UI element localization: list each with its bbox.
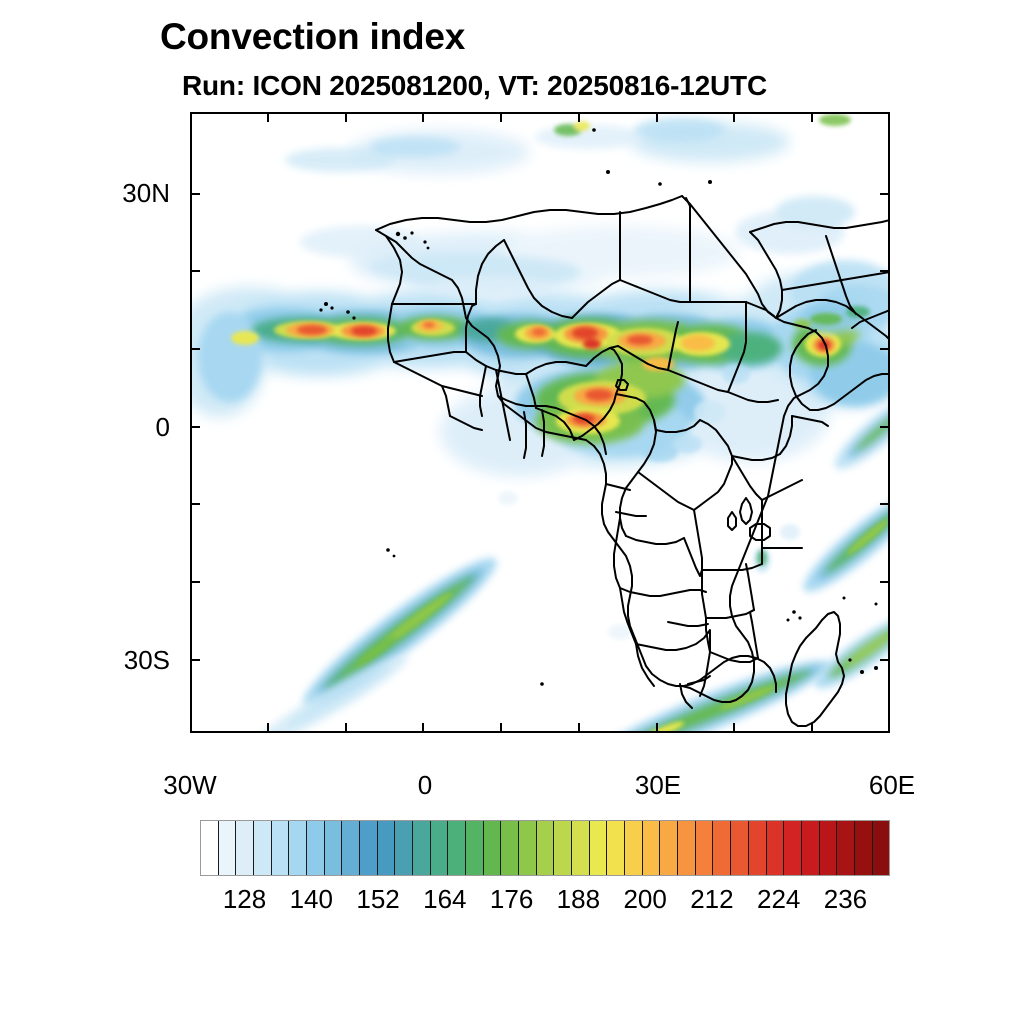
colorbar-cell xyxy=(820,821,838,875)
colorbar-cell xyxy=(572,821,590,875)
colorbar-cell xyxy=(873,821,890,875)
colorbar-cell xyxy=(289,821,307,875)
colorbar-cell xyxy=(201,821,219,875)
map-plot-area xyxy=(190,112,890,733)
colorbar-cell xyxy=(219,821,237,875)
colorbar-cell xyxy=(448,821,466,875)
colorbar-cell xyxy=(784,821,802,875)
xtick-label-30w: 30W xyxy=(110,770,270,801)
colorbar-cell xyxy=(236,821,254,875)
colorbar-cell xyxy=(855,821,873,875)
colorbar-cell xyxy=(537,821,555,875)
page-title: Convection index xyxy=(160,16,465,58)
colorbar-cell xyxy=(625,821,643,875)
colorbar-cell xyxy=(325,821,343,875)
colorbar-cell xyxy=(590,821,608,875)
colorbar-cell xyxy=(802,821,820,875)
xtick-label-60e: 60E xyxy=(812,770,972,801)
colorbar-cell xyxy=(378,821,396,875)
colorbar-cell xyxy=(696,821,714,875)
xtick-label-30e: 30E xyxy=(578,770,738,801)
colorbar-swatches[interactable] xyxy=(200,820,890,876)
colorbar-cell xyxy=(713,821,731,875)
figure-root: Convection index Run: ICON 2025081200, V… xyxy=(0,0,1024,1024)
colorbar-cell xyxy=(767,821,785,875)
ytick-label-0: 0 xyxy=(60,412,170,443)
colorbar-cell xyxy=(660,821,678,875)
colorbar-cell xyxy=(519,821,537,875)
colorbar-cell xyxy=(501,821,519,875)
colorbar-cell xyxy=(254,821,272,875)
colorbar-cell xyxy=(749,821,767,875)
plot-frame-border xyxy=(190,112,890,733)
colorbar-cell xyxy=(360,821,378,875)
colorbar-cell xyxy=(431,821,449,875)
colorbar-cell xyxy=(607,821,625,875)
colorbar-cell xyxy=(466,821,484,875)
colorbar-cell xyxy=(837,821,855,875)
ytick-label-30n: 30N xyxy=(60,178,170,209)
colorbar-cell xyxy=(643,821,661,875)
colorbar-cell xyxy=(395,821,413,875)
colorbar-cell xyxy=(554,821,572,875)
ytick-label-30s: 30S xyxy=(60,645,170,676)
colorbar[interactable] xyxy=(200,820,890,876)
colorbar-cell xyxy=(272,821,290,875)
xtick-label-0: 0 xyxy=(345,770,505,801)
colorbar-cell xyxy=(307,821,325,875)
colorbar-cell xyxy=(342,821,360,875)
colorbar-cell xyxy=(413,821,431,875)
colorbar-cell xyxy=(678,821,696,875)
colorbar-cell xyxy=(484,821,502,875)
colorbar-tick-label: 236 xyxy=(795,884,895,915)
chart-subtitle: Run: ICON 2025081200, VT: 20250816-12UTC xyxy=(182,70,767,102)
colorbar-cell xyxy=(731,821,749,875)
